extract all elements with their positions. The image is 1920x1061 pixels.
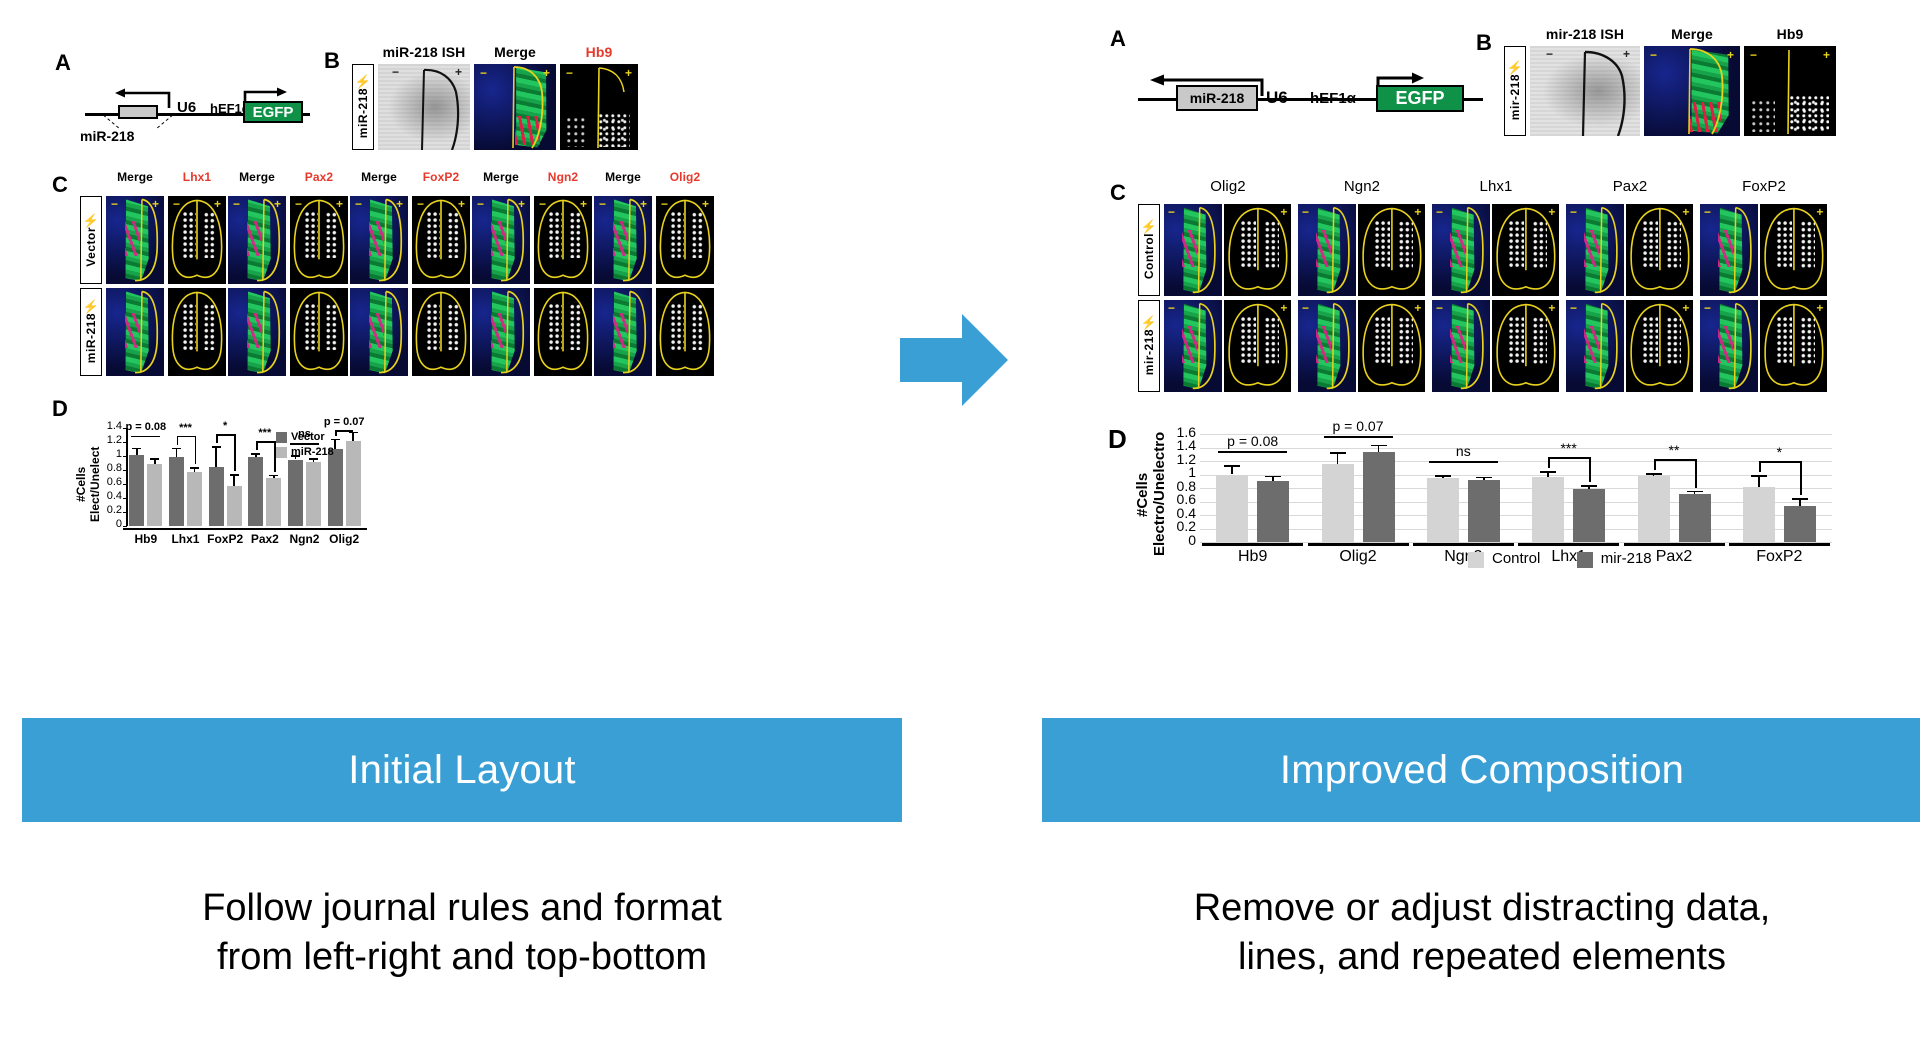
right-panel-d-letter: D — [1108, 424, 1127, 455]
right-chart-bracket-left-Pax2 — [1654, 459, 1656, 470]
right-chart-errorcap-Lhx1-Control — [1540, 471, 1556, 473]
left-chart-xrule-Pax2 — [242, 528, 287, 530]
left-chart-bar-Ngn2-Vector — [288, 460, 303, 527]
micrograph-marker-olig2-row0: + — [1224, 204, 1292, 296]
right-chart-gridline — [1200, 488, 1832, 489]
right-chart-errorcap-Lhx1-mir-218 — [1581, 485, 1597, 487]
left-chart-xlabel-Pax2: Pax2 — [245, 532, 285, 546]
right-panel-c-row-label-mir218-text: mir-218 — [1142, 329, 1156, 375]
right-chart-siglabel-FoxP2: * — [1719, 444, 1839, 460]
right-chart-bracket-left-Lhx1 — [1548, 457, 1550, 468]
left-chart-legend-swatch-Vector — [276, 432, 287, 443]
left-panel-c: MergeLhx1MergePax2MergeFoxP2MergeNgn2Mer… — [80, 170, 720, 380]
left-chart-bracket-left-Olig2 — [335, 430, 337, 436]
right-chart-bar-Hb9-mir-218 — [1257, 481, 1289, 542]
left-chart-errorcap-Lhx1-miR-218 — [190, 467, 199, 469]
left-chart-bar-Lhx1-Vector — [169, 457, 184, 526]
right-chart-siglabel-Ngn2: ns — [1403, 443, 1523, 459]
left-panel-c-header-foxp2-5: FoxP2 — [412, 170, 470, 184]
left-chart-y-axis-line — [126, 428, 128, 526]
right-chart-bar-Pax2-mir-218 — [1679, 494, 1711, 542]
right-chart-gridline — [1200, 475, 1832, 476]
left-chart-errorcap-Hb9-miR-218 — [150, 458, 159, 460]
micrograph-hb9: − + — [560, 64, 638, 150]
left-chart-ytick-0.2: 0.2 — [100, 504, 122, 516]
right-chart-bar-Lhx1-mir-218 — [1573, 489, 1605, 542]
callout-line-right — [157, 115, 173, 129]
left-chart-xlabel-Olig2: Olig2 — [324, 532, 364, 546]
right-banner: Improved Composition — [1042, 718, 1920, 822]
right-chart-xrule-Pax2 — [1624, 543, 1725, 546]
right-chart-legend-swatch-Control — [1468, 552, 1484, 568]
lightning-bolt-icon: ⚡ — [83, 300, 99, 313]
left-chart-errorcap-Lhx1-Vector — [172, 448, 181, 450]
right-chart-bracket-right-Pax2 — [1695, 459, 1697, 488]
left-panel-b-header-ish: miR-218 ISH — [378, 44, 470, 60]
micrograph-marker-pax2-row0: + — [1626, 204, 1694, 296]
micrograph-merge-ngn2-row0: − — [1298, 204, 1356, 296]
right-panel-c-letter: C — [1110, 180, 1126, 206]
right-chart-bracket-top-FoxP2 — [1759, 461, 1800, 463]
right-chart-bar-Ngn2-Control — [1427, 478, 1459, 542]
construct-egfp-box: EGFP — [1376, 85, 1464, 112]
left-panel-c-header-merge-6: Merge — [472, 170, 530, 184]
left-chart-ytick-0: 0 — [100, 518, 122, 530]
micrograph-marker-foxp2-row0: + — [1760, 204, 1828, 296]
micrograph-merge-merge-row0: −+ — [228, 196, 286, 284]
right-chart-xrule-Olig2 — [1308, 543, 1409, 546]
left-chart-xrule-Hb9 — [123, 528, 168, 530]
right-chart-sigline-Olig2 — [1324, 436, 1393, 438]
left-chart-legend-swatch-miR-218 — [276, 447, 287, 458]
micrograph-merge: − + — [474, 64, 556, 150]
right-chart-xrule-Hb9 — [1202, 543, 1303, 546]
right-chart-errorcap-Pax2-Control — [1646, 473, 1662, 475]
left-chart-errorcap-Ngn2-miR-218 — [309, 458, 318, 460]
right-caption: Remove or adjust distracting data, lines… — [1042, 884, 1920, 981]
right-chart-gridline — [1200, 529, 1832, 530]
right-chart-errorbar-Olig2-Control — [1337, 452, 1339, 463]
left-chart-bar-Olig2-miR-218 — [346, 441, 361, 526]
left-chart-bracket-top-Olig2 — [335, 430, 353, 432]
left-chart-xlabel-Lhx1: Lhx1 — [166, 532, 206, 546]
left-panel-c-header-merge-8: Merge — [594, 170, 652, 184]
right-chart-gridline — [1200, 515, 1832, 516]
left-chart-y-axis-title: #Cells Elect/Unelect — [74, 428, 102, 541]
micrograph-merge-merge-row1 — [228, 288, 286, 376]
left-panel-c-header-ngn2-7: Ngn2 — [534, 170, 592, 184]
right-chart-legend-swatch-mir-218 — [1577, 552, 1593, 568]
right-panel-a-letter: A — [1110, 26, 1126, 52]
right-arrow-icon — [900, 312, 1010, 408]
left-chart-bar-Hb9-miR-218 — [147, 464, 162, 526]
left-panel-c-header-olig2-9: Olig2 — [656, 170, 714, 184]
right-panel-b-header-hb9: Hb9 — [1744, 26, 1836, 42]
left-chart-xlabel-Hb9: Hb9 — [126, 532, 166, 546]
left-chart-sigline-Ngn2 — [290, 443, 319, 445]
right-chart-xrule-Ngn2 — [1413, 543, 1514, 546]
lightning-bolt-icon: ⚡ — [1141, 220, 1157, 233]
left-chart-ytick-0.6: 0.6 — [100, 476, 122, 488]
right-chart-bracket-left-FoxP2 — [1759, 461, 1761, 472]
left-chart-xrule-Olig2 — [322, 528, 367, 530]
right-caption-line1: Remove or adjust distracting data, — [1042, 884, 1920, 933]
right-chart-sigline-Ngn2 — [1429, 461, 1498, 463]
right-chart-bar-Hb9-Control — [1216, 475, 1248, 543]
micrograph-merge-merge-row0: −+ — [106, 196, 164, 284]
micrograph-marker-pax2-row1: + — [1626, 300, 1694, 392]
right-chart-gridline — [1200, 502, 1832, 503]
micrograph-merge-merge-row1 — [106, 288, 164, 376]
micrograph-merge-foxp2-row0: − — [1700, 204, 1758, 296]
left-figure: A U6 hEF1α EGFP miR-21 — [0, 0, 760, 570]
left-chart-bar-Pax2-Vector — [248, 457, 263, 526]
left-chart-errorcap-Pax2-miR-218 — [269, 475, 278, 477]
right-panel-b-row-label: ⚡ mir-218 — [1504, 46, 1526, 136]
left-chart-xrule-Lhx1 — [163, 528, 208, 530]
micrograph-marker-olig2-row0: −+ — [656, 196, 714, 284]
right-bar-chart: #Cells Electro/Unelectro00.20.40.60.811.… — [1138, 420, 1838, 570]
construct-u6-label: U6 — [177, 99, 196, 116]
left-chart-ytick-1: 1 — [100, 448, 122, 460]
right-panel-c-header-olig2: Olig2 — [1164, 178, 1292, 195]
left-panel-c-row-label-mir218-text: miR-218 — [84, 313, 98, 363]
micrograph-merge-lhx1-row0: − — [1432, 204, 1490, 296]
left-chart-ytick-0.8: 0.8 — [100, 462, 122, 474]
micrograph-ish: − + — [378, 64, 470, 150]
right-chart-bar-Pax2-Control — [1638, 476, 1670, 542]
micrograph-marker-lhx1-row1 — [168, 288, 226, 376]
micrograph-merge-merge-row1 — [594, 288, 652, 376]
left-chart-bar-FoxP2-miR-218 — [227, 486, 242, 526]
micrograph-marker-ngn2-row0: + — [1358, 204, 1426, 296]
right-chart-legend-label-mir-218: mir-218 — [1601, 550, 1652, 567]
micrograph-merge-olig2-row0: − — [1164, 204, 1222, 296]
micrograph-marker-pax2-row0: −+ — [290, 196, 348, 284]
right-chart-siglabel-Olig2: p = 0.07 — [1298, 418, 1418, 434]
right-chart-errorcap-Olig2-mir-218 — [1371, 445, 1387, 447]
micrograph-marker-ngn2-row1 — [534, 288, 592, 376]
micrograph-merge-pax2-row1: − — [1566, 300, 1624, 392]
micrograph-marker-olig2-row1: + — [1224, 300, 1292, 392]
right-chart-errorcap-Ngn2-mir-218 — [1476, 477, 1492, 479]
right-chart-errorcap-FoxP2-mir-218 — [1792, 498, 1808, 500]
micrograph-marker-ngn2-row1: + — [1358, 300, 1426, 392]
right-chart-bracket-right-FoxP2 — [1800, 461, 1802, 495]
construct-egfp-box: EGFP — [243, 101, 303, 123]
micrograph-marker-lhx1-row0: + — [1492, 204, 1560, 296]
micrograph-marker-pax2-row1 — [290, 288, 348, 376]
micrograph-merge-foxp2-row1: − — [1700, 300, 1758, 392]
right-chart-xlabel-Olig2: Olig2 — [1305, 548, 1410, 566]
micrograph-merge-merge-row0: −+ — [350, 196, 408, 284]
left-panel-d-letter: D — [52, 396, 68, 422]
right-chart-gridline — [1200, 461, 1832, 462]
right-chart-errorcap-Hb9-mir-218 — [1265, 476, 1281, 478]
construct-hef1a-label: hEF1α — [1310, 90, 1356, 107]
right-chart-bar-FoxP2-Control — [1743, 487, 1775, 542]
right-chart-xlabel-FoxP2: FoxP2 — [1727, 548, 1832, 566]
right-chart-xrule-FoxP2 — [1729, 543, 1830, 546]
left-chart-xrule-Ngn2 — [282, 528, 327, 530]
right-chart-bar-Olig2-mir-218 — [1363, 452, 1395, 542]
micrograph-marker-olig2-row1 — [656, 288, 714, 376]
right-chart-xlabel-Hb9: Hb9 — [1200, 548, 1305, 566]
right-chart-bracket-top-Lhx1 — [1548, 457, 1589, 459]
left-chart-bracket-left-Pax2 — [256, 441, 258, 450]
left-panel-b-header-merge: Merge — [474, 44, 556, 60]
right-chart-siglabel-Lhx1: *** — [1509, 440, 1629, 456]
micrograph-marker-ngn2-row0: −+ — [534, 196, 592, 284]
right-panel-c-header-pax2: Pax2 — [1566, 178, 1694, 195]
left-panel-c-row-label-mir218: ⚡ miR-218 — [80, 288, 102, 376]
micrograph-marker-foxp2-row1 — [412, 288, 470, 376]
right-figure: A miR-218 U6 hEF1α EGFP B mir-218 ISH Me… — [1080, 0, 1920, 570]
right-chart-siglabel-Pax2: ** — [1614, 442, 1734, 458]
left-chart-bar-FoxP2-Vector — [209, 467, 224, 526]
left-chart-bar-Pax2-miR-218 — [266, 478, 281, 526]
right-construct-diagram: miR-218 U6 hEF1α EGFP — [1138, 68, 1488, 118]
left-panel-c-row-label-vector: ⚡ Vector — [80, 196, 102, 284]
right-chart-errorcap-Ngn2-Control — [1435, 475, 1451, 477]
left-chart-ytick-1.2: 1.2 — [100, 434, 122, 446]
left-panel-c-header-merge-2: Merge — [228, 170, 286, 184]
left-chart-bar-Hb9-Vector — [129, 455, 144, 526]
left-panel-b-letter: B — [324, 48, 340, 74]
left-chart-sigline-Hb9 — [131, 436, 160, 438]
left-chart-bracket-top-Pax2 — [256, 441, 274, 443]
construct-mir218-callout-label: miR-218 — [80, 128, 134, 144]
right-panel-b: mir-218 ISH Merge Hb9 ⚡ mir-218 − + — [1504, 26, 1864, 138]
left-panel-c-header-pax2-3: Pax2 — [290, 170, 348, 184]
right-chart-bar-FoxP2-mir-218 — [1784, 506, 1816, 542]
right-panel-c-row-label-mir218: ⚡ mir-218 — [1138, 300, 1160, 392]
lightning-bolt-icon: ⚡ — [355, 75, 371, 88]
right-banner-label: Improved Composition — [1280, 748, 1684, 793]
micrograph-merge-pax2-row0: − — [1566, 204, 1624, 296]
lightning-bolt-icon: ⚡ — [1141, 316, 1157, 329]
right-panel-b-row-label-text: mir-218 — [1508, 74, 1522, 120]
left-panel-b-row-label: ⚡ miR-218 — [352, 64, 374, 150]
micrograph-merge-merge-row1 — [350, 288, 408, 376]
right-chart-siglabel-Hb9: p = 0.08 — [1193, 433, 1313, 449]
right-chart-bar-Ngn2-mir-218 — [1468, 480, 1500, 542]
right-chart-bracket-right-Lhx1 — [1589, 457, 1591, 482]
left-chart-bracket-right-Lhx1 — [195, 436, 197, 465]
left-chart-bracket-top-Lhx1 — [177, 436, 195, 438]
right-chart-errorcap-Hb9-Control — [1224, 465, 1240, 467]
micrograph-merge-olig2-row1: − — [1164, 300, 1222, 392]
left-chart-errorbar-FoxP2-Vector — [215, 446, 217, 467]
micrograph-marker-foxp2-row0: −+ — [412, 196, 470, 284]
left-chart-bracket-right-FoxP2 — [234, 434, 236, 471]
left-banner: Initial Layout — [22, 718, 902, 822]
callout-line-left — [103, 115, 119, 129]
u6-promoter-arrow-icon — [113, 88, 171, 110]
construct-mir-box: miR-218 — [1176, 85, 1258, 111]
left-chart-errorcap-Pax2-Vector — [251, 453, 260, 455]
right-chart-legend-label-Control: Control — [1492, 550, 1540, 567]
right-chart-bracket-top-Pax2 — [1654, 459, 1695, 461]
right-chart-y-axis-title: #Cells Electro/Unelectro — [1134, 434, 1168, 556]
left-chart-siglabel-Olig2: p = 0.07 — [284, 416, 404, 428]
left-caption-line2: from left-right and top-bottom — [22, 933, 902, 982]
lightning-bolt-icon: ⚡ — [1507, 61, 1523, 74]
micrograph-merge-merge-row0: −+ — [472, 196, 530, 284]
right-panel-c: Olig2Ngn2Lhx1Pax2FoxP2 ⚡ Control ⚡ mir-2… — [1138, 178, 1838, 398]
right-chart-errorcap-Olig2-Control — [1330, 452, 1346, 454]
right-panel-b-letter: B — [1476, 30, 1492, 56]
left-panel-c-header-lhx1-1: Lhx1 — [168, 170, 226, 184]
micrograph-marker-lhx1-row1: + — [1492, 300, 1560, 392]
left-panel-b-header-hb9: Hb9 — [560, 44, 638, 60]
left-panel-c-header-merge-0: Merge — [106, 170, 164, 184]
left-construct-diagram: U6 hEF1α EGFP miR-218 — [85, 85, 315, 145]
left-caption: Follow journal rules and format from lef… — [22, 884, 902, 981]
left-chart-errorcap-Olig2-Vector — [331, 439, 340, 441]
micrograph-marker-foxp2-row1: + — [1760, 300, 1828, 392]
micrograph-merge: − + — [1644, 46, 1740, 136]
lightning-bolt-icon: ⚡ — [83, 214, 99, 227]
right-panel-c-header-foxp2: FoxP2 — [1700, 178, 1828, 195]
right-chart-errorcap-FoxP2-Control — [1751, 475, 1767, 477]
left-chart-xlabel-FoxP2: FoxP2 — [205, 532, 245, 546]
left-panel-c-header-merge-4: Merge — [350, 170, 408, 184]
micrograph-merge-lhx1-row1: − — [1432, 300, 1490, 392]
micrograph-merge-merge-row0: −+ — [594, 196, 652, 284]
left-chart-bar-Olig2-Vector — [328, 449, 343, 526]
micrograph-ish: − + — [1530, 46, 1640, 136]
right-panel-b-header-merge: Merge — [1644, 26, 1740, 42]
left-chart-errorcap-FoxP2-miR-218 — [230, 474, 239, 476]
left-chart-errorbar-FoxP2-miR-218 — [233, 474, 235, 486]
left-panel-a-letter: A — [55, 50, 71, 76]
right-panel-c-header-lhx1: Lhx1 — [1432, 178, 1560, 195]
left-chart-xlabel-Ngn2: Ngn2 — [285, 532, 325, 546]
left-panel-c-letter: C — [52, 172, 68, 198]
right-panel-b-header-ish: mir-218 ISH — [1530, 26, 1640, 42]
left-chart-errorcap-Hb9-Vector — [132, 448, 141, 450]
left-chart-bar-Ngn2-miR-218 — [306, 462, 321, 526]
right-panel-c-header-ngn2: Ngn2 — [1298, 178, 1426, 195]
micrograph-merge-ngn2-row1: − — [1298, 300, 1356, 392]
left-chart-legend-label-miR-218: miR-218 — [291, 446, 334, 458]
left-panel-b: miR-218 ISH Merge Hb9 ⚡ miR-218 − + — [352, 44, 652, 154]
right-caption-line2: lines, and repeated elements — [1042, 933, 1920, 982]
left-chart-legend-label-Vector: Vector — [291, 431, 325, 443]
left-chart-errorcap-FoxP2-Vector — [212, 446, 221, 448]
figure-comparison-canvas: A U6 hEF1α EGFP miR-21 — [0, 0, 1920, 1061]
left-banner-label: Initial Layout — [348, 748, 575, 793]
right-chart-errorcap-Pax2-mir-218 — [1687, 491, 1703, 493]
right-chart-xrule-Lhx1 — [1518, 543, 1619, 546]
left-chart-bar-Lhx1-miR-218 — [187, 472, 202, 526]
left-bar-chart: #Cells Elect/Unelect00.20.40.60.811.21.4… — [80, 398, 370, 556]
right-panel-c-row-label-control-text: Control — [1142, 233, 1156, 279]
left-chart-xrule-FoxP2 — [203, 528, 248, 530]
left-caption-line1: Follow journal rules and format — [22, 884, 902, 933]
left-chart-bracket-left-Lhx1 — [177, 436, 179, 445]
left-panel-c-row-label-vector-text: Vector — [84, 227, 98, 267]
right-chart-bar-Lhx1-Control — [1532, 477, 1564, 542]
construct-u6-label: U6 — [1266, 88, 1288, 108]
right-chart-sigline-Hb9 — [1218, 451, 1287, 453]
micrograph-hb9: − + — [1744, 46, 1836, 136]
right-panel-c-row-label-control: ⚡ Control — [1138, 204, 1160, 296]
right-chart-errorbar-FoxP2-Control — [1758, 475, 1760, 487]
right-chart-bar-Olig2-Control — [1322, 464, 1354, 542]
micrograph-merge-merge-row1 — [472, 288, 530, 376]
micrograph-marker-lhx1-row0: −+ — [168, 196, 226, 284]
left-chart-ytick-0.4: 0.4 — [100, 490, 122, 502]
left-panel-b-row-label-text: miR-218 — [356, 88, 370, 138]
transition-arrow — [900, 312, 1010, 408]
